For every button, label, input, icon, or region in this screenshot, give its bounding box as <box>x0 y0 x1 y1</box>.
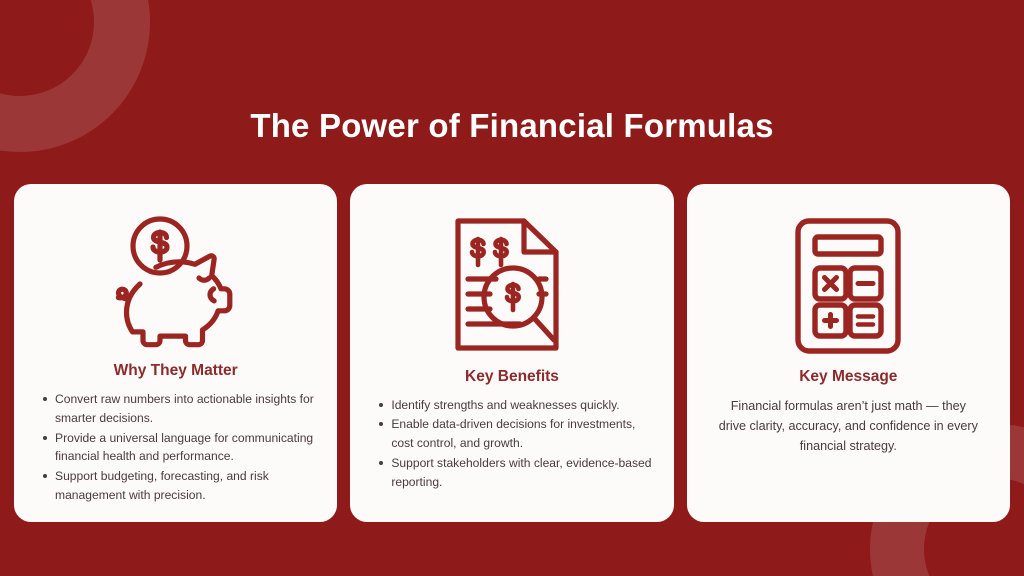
list-item: Identify strengths and weaknesses quickl… <box>379 396 658 415</box>
calculator-icon <box>791 210 905 362</box>
card-key-benefits: Key Benefits Identify strengths and weak… <box>350 184 673 522</box>
piggy-bank-icon <box>101 210 251 356</box>
card-why-they-matter: Why They Matter Convert raw numbers into… <box>14 184 337 522</box>
card-bullet-list: Identify strengths and weaknesses quickl… <box>363 396 660 493</box>
list-item: Provide a universal language for communi… <box>43 429 322 467</box>
card-key-message: Key Message Financial formulas aren’t ju… <box>687 184 1010 522</box>
card-heading: Why They Matter <box>114 362 238 381</box>
slide-canvas: The Power of Financial Formulas <box>0 0 1024 576</box>
financial-document-magnifier-icon <box>448 210 576 362</box>
card-heading: Key Benefits <box>465 368 559 387</box>
card-body-text: Financial formulas aren’t just math — th… <box>709 396 988 457</box>
card-bullet-list: Convert raw numbers into actionable insi… <box>27 390 324 506</box>
list-item: Support stakeholders with clear, evidenc… <box>379 454 658 492</box>
list-item: Enable data-driven decisions for investm… <box>379 415 658 453</box>
card-heading: Key Message <box>799 368 897 387</box>
list-item: Convert raw numbers into actionable insi… <box>43 390 322 428</box>
cards-row: Why They Matter Convert raw numbers into… <box>14 184 1010 522</box>
list-item: Support budgeting, forecasting, and risk… <box>43 467 322 505</box>
page-title: The Power of Financial Formulas <box>0 106 1024 146</box>
